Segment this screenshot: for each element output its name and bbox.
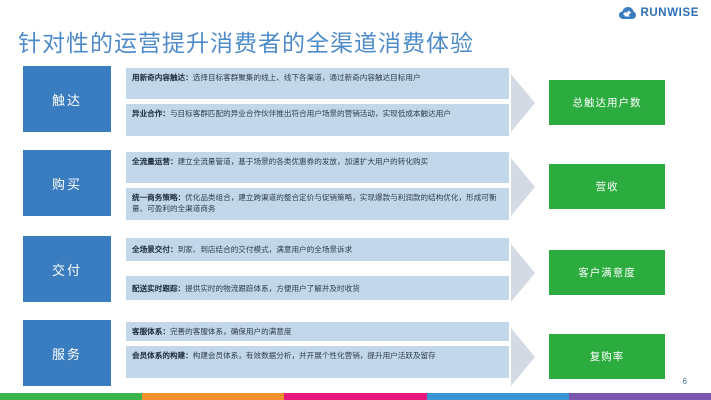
color-bar-segment-orange xyxy=(142,393,284,400)
page-title: 针对性的运营提升消费者的全渠道消费体验 xyxy=(18,24,474,58)
item-text: 构建会员体系，有效数据分析，并开展个性化营销，提升用户活跃及留存 xyxy=(193,351,436,360)
metric-box[interactable]: 复购率 xyxy=(549,334,665,379)
funnel-diagram: 触达 用新奇内容触达：选择目标客群聚集的线上、线下各渠道，通过新奇内容触达目标用… xyxy=(0,62,711,384)
metric-label: 总触达用户数 xyxy=(573,95,642,110)
item-block[interactable]: 全场景交付：到家、到店结合的交付模式，满意用户的全场景诉求 xyxy=(126,238,509,262)
item-block[interactable]: 客服体系：完善的客服体系，确保用户的满意度 xyxy=(126,322,509,342)
metric-label: 复购率 xyxy=(590,349,625,364)
item-lead: 异业合作： xyxy=(132,109,170,118)
stage-label-text: 服务 xyxy=(52,344,82,363)
cloud-arrow-icon xyxy=(619,7,636,21)
item-group: 客服体系：完善的客服体系，确保用户的满意度 会员体系的构建：构建会员体系，有效数… xyxy=(126,322,509,378)
color-bar-segment-green xyxy=(0,393,142,400)
footer-color-bar xyxy=(0,393,711,400)
brand-logo: RUNWISE xyxy=(619,6,699,22)
item-text: 建立全流量管道，基于场景的各类优惠券的发放，加速扩大用户的转化购买 xyxy=(178,157,429,166)
item-text: 完善的客服体系，确保用户的满意度 xyxy=(170,327,292,336)
stage-label-box[interactable]: 服务 xyxy=(23,320,111,386)
item-group: 用新奇内容触达：选择目标客群聚集的线上、线下各渠道，通过新奇内容触达目标用户 异… xyxy=(126,68,509,136)
item-block[interactable]: 配送实时跟踪：提供实时的物流跟踪体系，方便用户了解并及时收货 xyxy=(126,276,509,300)
funnel-row: 交付 全场景交付：到家、到店结合的交付模式，满意用户的全场景诉求 配送实时跟踪：… xyxy=(0,232,711,310)
item-block[interactable]: 用新奇内容触达：选择目标客群聚集的线上、线下各渠道，通过新奇内容触达目标用户 xyxy=(126,68,509,100)
page-number: 6 xyxy=(683,377,687,386)
color-bar-segment-pink xyxy=(284,393,426,400)
item-block[interactable]: 统一商务策略：优化品类组合，建立跨渠道的整合定价与促销策略，实现爆款与利润款的结… xyxy=(126,188,509,220)
stage-label-text: 触达 xyxy=(52,90,82,109)
metric-label: 营收 xyxy=(596,179,619,194)
stage-label-text: 购买 xyxy=(52,174,82,193)
funnel-row: 服务 客服体系：完善的客服体系，确保用户的满意度 会员体系的构建：构建会员体系，… xyxy=(0,316,711,394)
funnel-row: 购买 全流量运营：建立全流量管道，基于场景的各类优惠券的发放，加速扩大用户的转化… xyxy=(0,146,711,226)
stage-label-box[interactable]: 购买 xyxy=(23,150,111,216)
item-block[interactable]: 异业合作：与目标客群匹配的异业合作伙伴推出符合用户场景的营销活动，实现低成本触达… xyxy=(126,104,509,136)
metric-label: 客户满意度 xyxy=(578,265,636,280)
item-group: 全流量运营：建立全流量管道，基于场景的各类优惠券的发放，加速扩大用户的转化购买 … xyxy=(126,152,509,220)
item-lead: 全场景交付： xyxy=(132,245,178,254)
item-lead: 配送实时跟踪： xyxy=(132,284,185,293)
chevron-right-icon xyxy=(511,328,535,386)
brand-name: RUNWISE xyxy=(640,8,699,20)
item-lead: 统一商务策略： xyxy=(132,193,185,202)
item-block[interactable]: 会员体系的构建：构建会员体系，有效数据分析，并开展个性化营销，提升用户活跃及留存 xyxy=(126,346,509,378)
metric-box[interactable]: 营收 xyxy=(549,164,665,209)
item-text: 与目标客群匹配的异业合作伙伴推出符合用户场景的营销活动，实现低成本触达用户 xyxy=(170,109,451,118)
item-block[interactable]: 全流量运营：建立全流量管道，基于场景的各类优惠券的发放，加速扩大用户的转化购买 xyxy=(126,152,509,184)
item-lead: 会员体系的构建： xyxy=(132,351,193,360)
item-group: 全场景交付：到家、到店结合的交付模式，满意用户的全场景诉求 配送实时跟踪：提供实… xyxy=(126,238,509,300)
metric-box[interactable]: 客户满意度 xyxy=(549,250,665,295)
color-bar-segment-purple xyxy=(569,393,711,400)
item-lead: 用新奇内容触达： xyxy=(132,73,193,82)
stage-label-box[interactable]: 触达 xyxy=(23,66,111,132)
item-text: 优化品类组合，建立跨渠道的整合定价与促销策略，实现爆款与利润款的结构优化，形成可… xyxy=(132,193,497,213)
item-lead: 全流量运营： xyxy=(132,157,178,166)
stage-label-text: 交付 xyxy=(52,260,82,279)
item-text: 提供实时的物流跟踪体系，方便用户了解并及时收货 xyxy=(185,284,360,293)
chevron-right-icon xyxy=(511,74,535,132)
funnel-row: 触达 用新奇内容触达：选择目标客群聚集的线上、线下各渠道，通过新奇内容触达目标用… xyxy=(0,62,711,140)
chevron-right-icon xyxy=(511,244,535,302)
metric-box[interactable]: 总触达用户数 xyxy=(549,80,665,125)
item-lead: 客服体系： xyxy=(132,327,170,336)
slide-canvas: RUNWISE 针对性的运营提升消费者的全渠道消费体验 触达 用新奇内容触达：选… xyxy=(0,0,711,400)
item-text: 到家、到店结合的交付模式，满意用户的全场景诉求 xyxy=(178,245,353,254)
chevron-right-icon xyxy=(511,158,535,216)
item-text: 选择目标客群聚集的线上、线下各渠道，通过新奇内容触达目标用户 xyxy=(193,73,421,82)
stage-label-box[interactable]: 交付 xyxy=(23,236,111,302)
color-bar-segment-blue xyxy=(427,393,569,400)
